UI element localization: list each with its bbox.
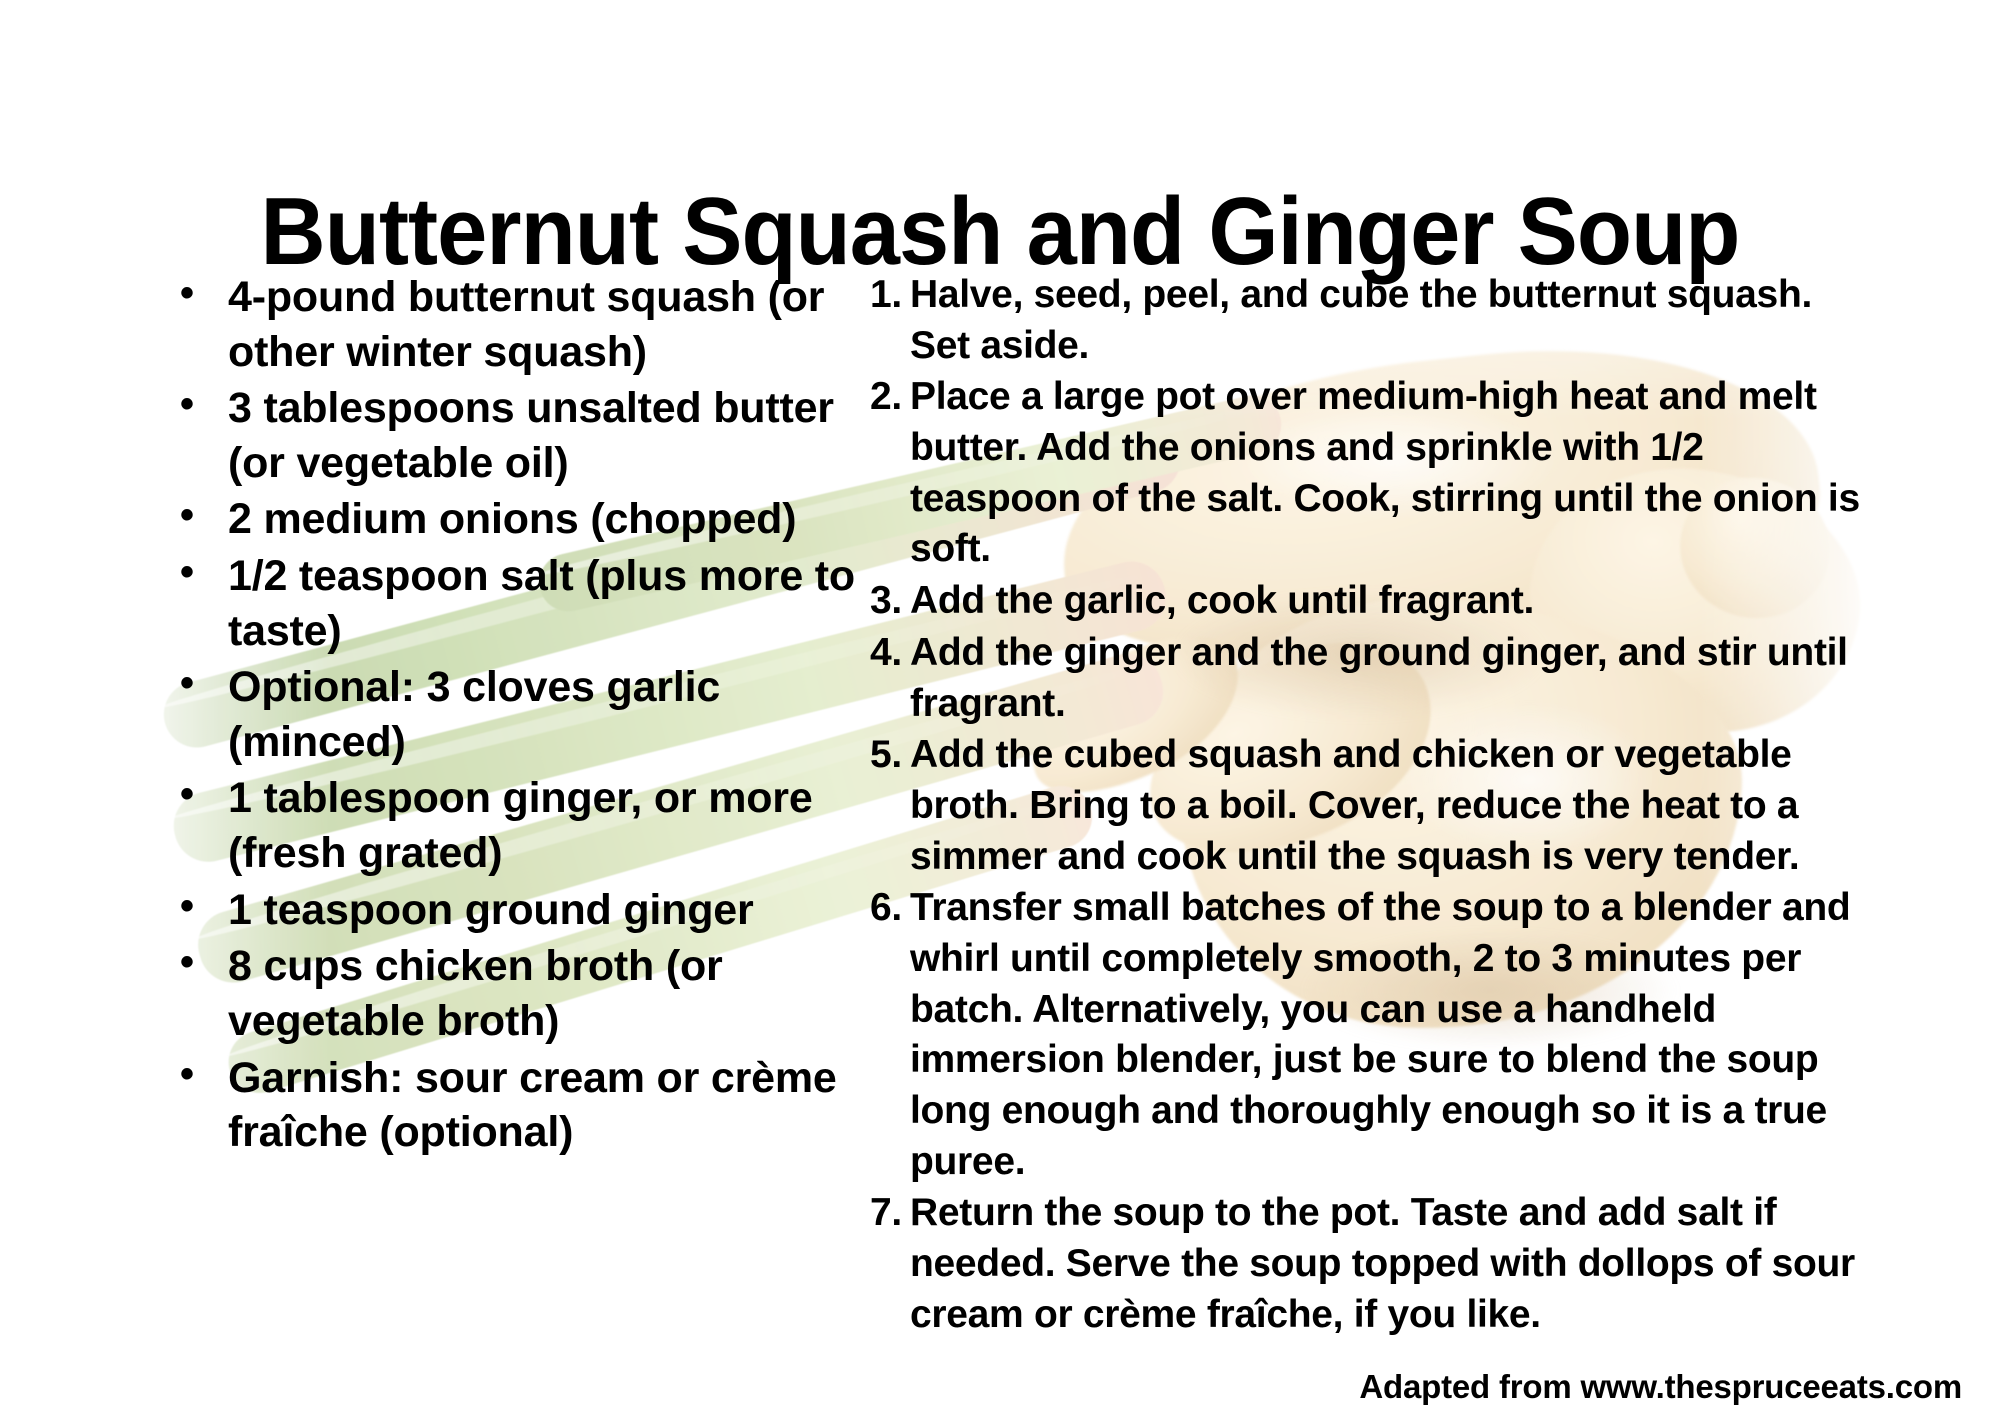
list-item: Garnish: sour cream or crème fraîche (op…: [150, 1051, 870, 1160]
list-item: 8 cups chicken broth (or vegetable broth…: [150, 939, 870, 1048]
recipe-card: Butternut Squash and Ginger Soup 4-pound…: [0, 0, 2000, 1428]
list-item: 2 medium onions (chopped): [150, 492, 870, 547]
card-content: Butternut Squash and Ginger Soup 4-pound…: [0, 0, 2000, 1428]
list-item: 3 tablespoons unsalted butter (or vegeta…: [150, 381, 870, 490]
list-item: 4-pound butternut squash (or other winte…: [150, 270, 870, 379]
list-item: 1 teaspoon ground ginger: [150, 883, 870, 938]
list-item: 1 tablespoon ginger, or more (fresh grat…: [150, 771, 870, 880]
list-item: Optional: 3 cloves garlic (minced): [150, 660, 870, 769]
list-item: Halve, seed, peel, and cube the butternu…: [870, 270, 1880, 371]
source-attribution: Adapted from www.thespruceeats.com: [1359, 1368, 1962, 1406]
list-item: Return the soup to the pot. Taste and ad…: [870, 1188, 1880, 1340]
list-item: 1/2 teaspoon salt (plus more to taste): [150, 549, 870, 658]
ingredients-list: 4-pound butternut squash (or other winte…: [150, 270, 870, 1162]
list-item: Add the garlic, cook until fragrant.: [870, 576, 1880, 627]
list-item: Place a large pot over medium-high heat …: [870, 372, 1880, 575]
list-item: Transfer small batches of the soup to a …: [870, 883, 1880, 1187]
list-item: Add the cubed squash and chicken or vege…: [870, 730, 1880, 882]
instructions-list: Halve, seed, peel, and cube the butternu…: [870, 270, 1880, 1341]
list-item: Add the ginger and the ground ginger, an…: [870, 628, 1880, 729]
recipe-columns: 4-pound butternut squash (or other winte…: [0, 270, 2000, 1341]
page-title: Butternut Squash and Ginger Soup: [60, 184, 1940, 280]
